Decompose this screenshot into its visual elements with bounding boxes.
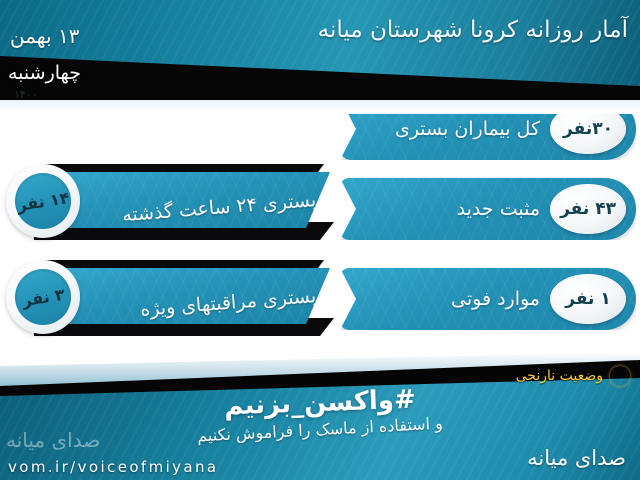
stat-row-admitted-24h[interactable]: بستری ۲۴ ساعت گذشته ۱۴ نفر <box>0 164 340 238</box>
stat-row-deaths[interactable]: موارد فوتی ۱ نفر <box>340 268 636 330</box>
stat-label-new-positive: مثبت جدید <box>364 198 540 220</box>
stat-value-total-hospitalized: ۳۰نفر <box>563 119 613 139</box>
covid-stats-poster: آمار روزانه کرونا شهرستان میانه ۱۳ بهمن … <box>0 0 640 480</box>
stat-badge-new-positive: ۴۳ نفر <box>550 184 626 234</box>
watermark-url: vom.ir/voiceofmiyana <box>8 458 219 476</box>
stat-badge-icu: ۳ نفر <box>6 260 80 334</box>
stat-badge-deaths: ۱ نفر <box>550 274 626 324</box>
stat-label-admitted-24h: بستری ۲۴ ساعت گذشته <box>64 189 317 228</box>
badge-inner-circle: ۱۴ نفر <box>15 173 71 229</box>
stat-label-deaths: موارد فوتی <box>364 288 540 310</box>
stat-value-icu: ۳ نفر <box>20 284 65 309</box>
badge-inner-circle: ۳ نفر <box>15 269 71 325</box>
stat-row-icu[interactable]: بستری مراقبتهای ویژه ۳ نفر <box>0 260 340 334</box>
header-date-weekday: چهارشنبه <box>8 62 158 84</box>
brand-logo: صدای میانه <box>527 446 626 470</box>
header-date-day: ۱۳ بهمن <box>10 24 160 48</box>
stat-value-deaths: ۱ نفر <box>565 289 611 309</box>
header-date-year: ۱۴۰۰ <box>14 88 134 101</box>
stat-label-icu: بستری مراقبتهای ویژه <box>64 285 317 324</box>
stat-value-new-positive: ۴۳ نفر <box>560 199 616 219</box>
page-title: آمار روزانه کرونا شهرستان میانه <box>208 16 628 45</box>
stat-label-total-hospitalized: کل بیماران بستری <box>364 118 540 140</box>
stat-row-new-positive[interactable]: مثبت جدید ۴۳ نفر <box>340 178 636 240</box>
stats-body: کل بیماران بستری ۳۰نفر مثبت جدید ۴۳ نفر … <box>0 92 640 360</box>
stat-badge-admitted-24h: ۱۴ نفر <box>6 164 80 238</box>
watermark-script: صدای میانه <box>6 428 100 452</box>
stat-value-admitted-24h: ۱۴ نفر <box>16 188 71 215</box>
